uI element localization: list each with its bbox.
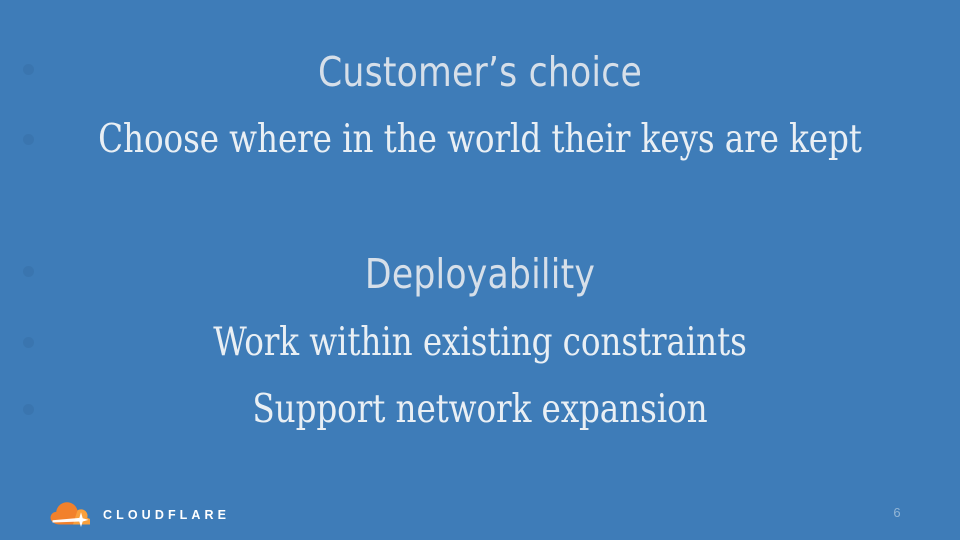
section-heading-deployability: Deployability bbox=[29, 250, 931, 298]
bullet-text-choose-where-keys-kept: Choose where in the world their keys are… bbox=[34, 117, 927, 162]
slide-content: Customer’s choice Choose where in the wo… bbox=[0, 0, 960, 540]
bullet-text-support-network-expansion: Support network expansion bbox=[34, 387, 927, 432]
slide-canvas: Customer’s choice Choose where in the wo… bbox=[0, 0, 960, 540]
cloudflare-logo: CLOUDFLARE bbox=[50, 500, 230, 528]
bullet-text-work-within-existing-constraints: Work within existing constraints bbox=[34, 320, 927, 365]
cloudflare-cloud-icon bbox=[50, 501, 94, 527]
section-heading-customers-choice: Customer’s choice bbox=[29, 48, 931, 96]
cloudflare-wordmark: CLOUDFLARE bbox=[103, 507, 230, 522]
page-number: 6 bbox=[882, 505, 912, 520]
